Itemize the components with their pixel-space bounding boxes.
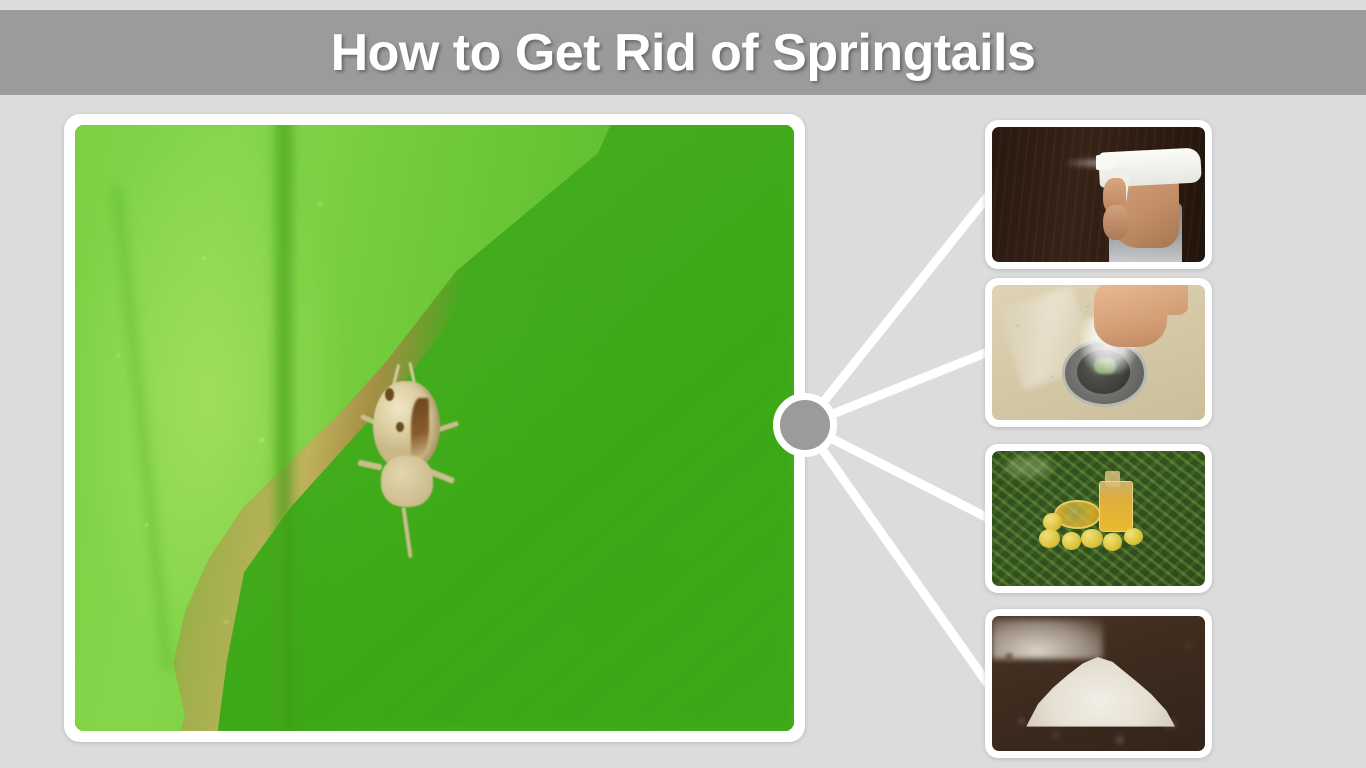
springtail-abdomen bbox=[381, 456, 433, 507]
neem-oil-bottle bbox=[1099, 481, 1133, 532]
neem-fruit-5 bbox=[1103, 533, 1122, 551]
main-image-card[interactable] bbox=[64, 114, 805, 742]
center-hub-node[interactable] bbox=[773, 393, 837, 457]
connector-line-1 bbox=[805, 196, 988, 425]
springtail-leg-2 bbox=[357, 460, 381, 471]
connector-line-4 bbox=[805, 425, 988, 684]
neem-fruit-3 bbox=[1062, 532, 1081, 550]
neem-fruit-4 bbox=[1081, 529, 1102, 548]
neem-fruit-1 bbox=[1043, 513, 1062, 531]
diatomaceous-earth-photo bbox=[992, 616, 1205, 751]
page-title: How to Get Rid of Springtails bbox=[331, 27, 1036, 79]
thumbnail-sink-drain[interactable] bbox=[985, 278, 1212, 427]
springtail-marking-1 bbox=[411, 398, 428, 456]
infographic-page: How to Get Rid of Springtails bbox=[0, 0, 1366, 768]
title-banner: How to Get Rid of Springtails bbox=[0, 10, 1366, 95]
sink-drain-photo bbox=[992, 285, 1205, 420]
spray-bottle-photo bbox=[992, 127, 1205, 262]
springtail-on-leaf-photo bbox=[75, 125, 794, 731]
finger-lower bbox=[1103, 205, 1129, 240]
thumbnail-diatomaceous-earth[interactable] bbox=[985, 609, 1212, 758]
thumbnail-spray-bottle[interactable] bbox=[985, 120, 1212, 269]
wrist bbox=[1133, 285, 1188, 315]
springtail-marking-3 bbox=[396, 422, 404, 432]
leaf-highlight bbox=[1005, 456, 1052, 478]
neem-oil-photo bbox=[992, 451, 1205, 586]
springtail-insect bbox=[355, 367, 463, 537]
thumbnail-neem-oil[interactable] bbox=[985, 444, 1212, 593]
